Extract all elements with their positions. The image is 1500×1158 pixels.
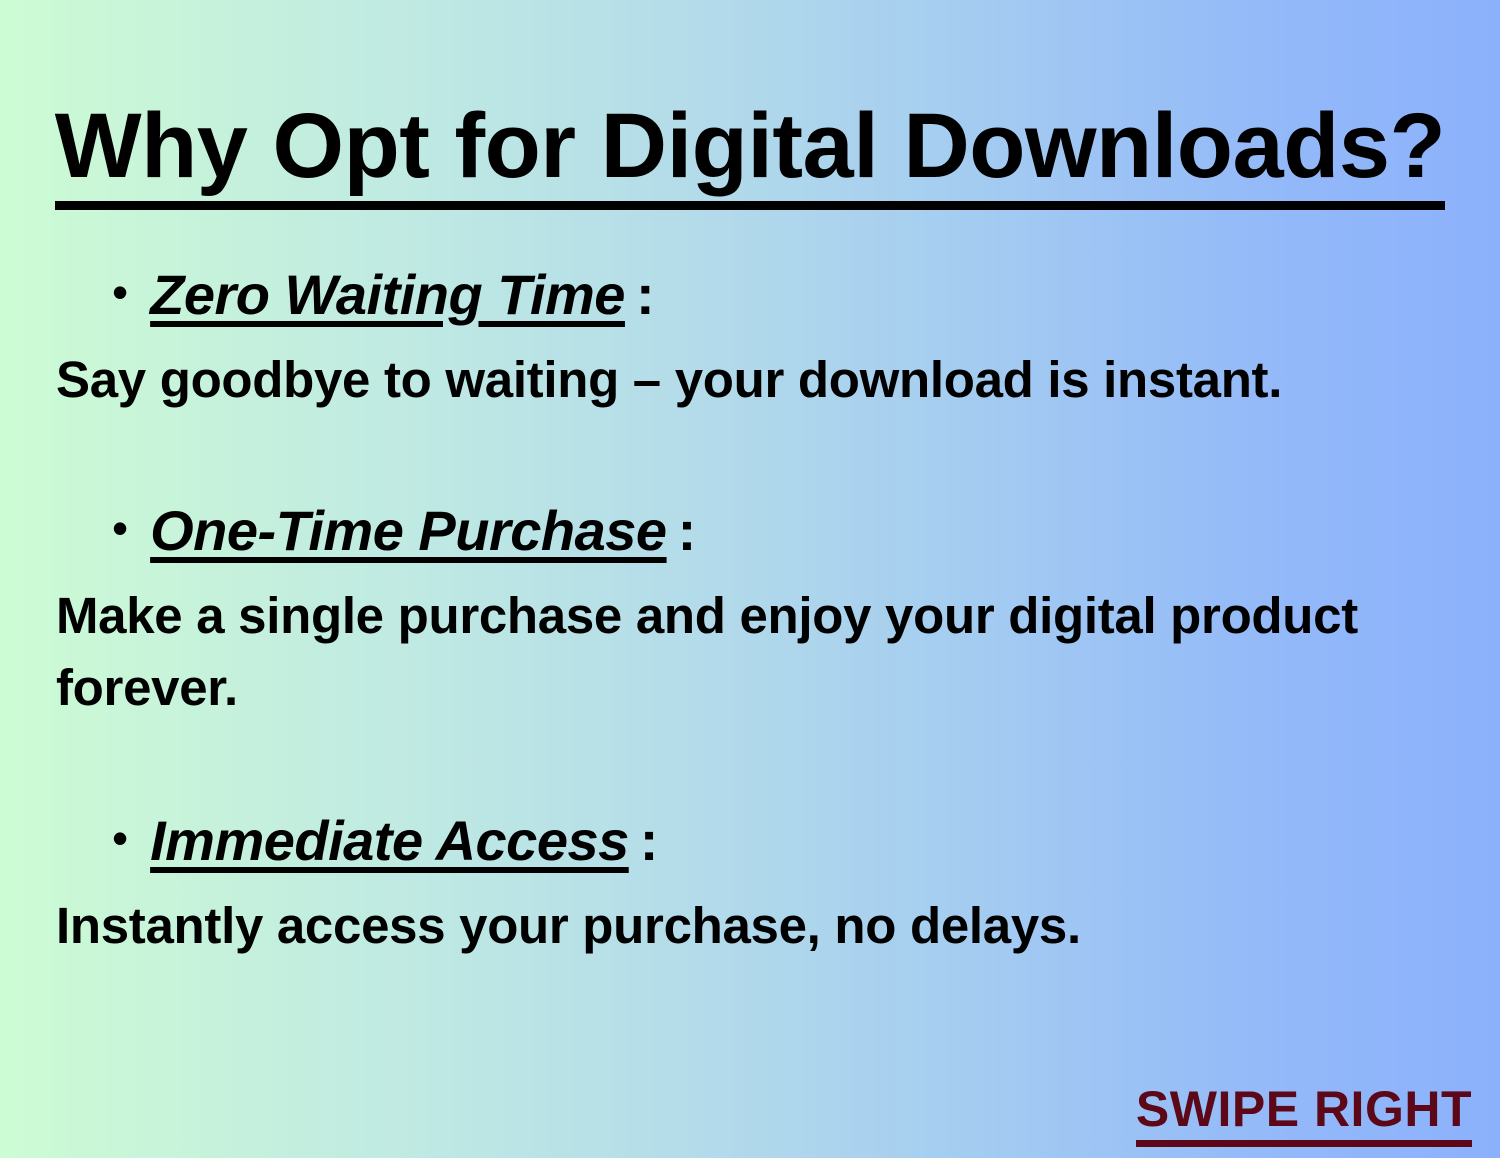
bullet-block-immediate-access: • Immediate Access : Instantly access yo… — [0, 808, 1440, 962]
bullet-dot-icon: • — [112, 815, 128, 861]
bullet-heading-row: • Immediate Access : — [0, 808, 1440, 874]
bullet-heading-label: Immediate Access — [150, 808, 629, 874]
bullet-dot-icon: • — [112, 269, 128, 315]
page-title: Why Opt for Digital Downloads? — [0, 98, 1500, 195]
bullet-dot-icon: • — [112, 505, 128, 551]
bullet-body-text: Instantly access your purchase, no delay… — [0, 874, 1416, 962]
bullet-body-text: Make a single purchase and enjoy your di… — [0, 564, 1416, 725]
swipe-right-cta[interactable]: SWIPE RIGHT — [1136, 1080, 1472, 1138]
bullet-heading-label: One-Time Purchase — [150, 498, 666, 564]
page-title-text: Why Opt for Digital Downloads? — [55, 95, 1445, 210]
bullet-colon: : — [678, 498, 697, 564]
bullet-colon: : — [636, 262, 655, 328]
bullet-heading-label: Zero Waiting Time — [150, 262, 625, 328]
bullet-block-one-time-purchase: • One-Time Purchase : Make a single purc… — [0, 498, 1440, 725]
bullet-body-text: Say goodbye to waiting – your download i… — [0, 328, 1416, 416]
swipe-right-label: SWIPE RIGHT — [1136, 1081, 1472, 1147]
slide-canvas: Why Opt for Digital Downloads? • Zero Wa… — [0, 0, 1500, 1158]
bullet-heading-row: • One-Time Purchase : — [0, 498, 1440, 564]
bullet-heading-row: • Zero Waiting Time : — [0, 262, 1440, 328]
bullet-colon: : — [640, 808, 659, 874]
bullet-block-zero-waiting-time: • Zero Waiting Time : Say goodbye to wai… — [0, 262, 1440, 416]
